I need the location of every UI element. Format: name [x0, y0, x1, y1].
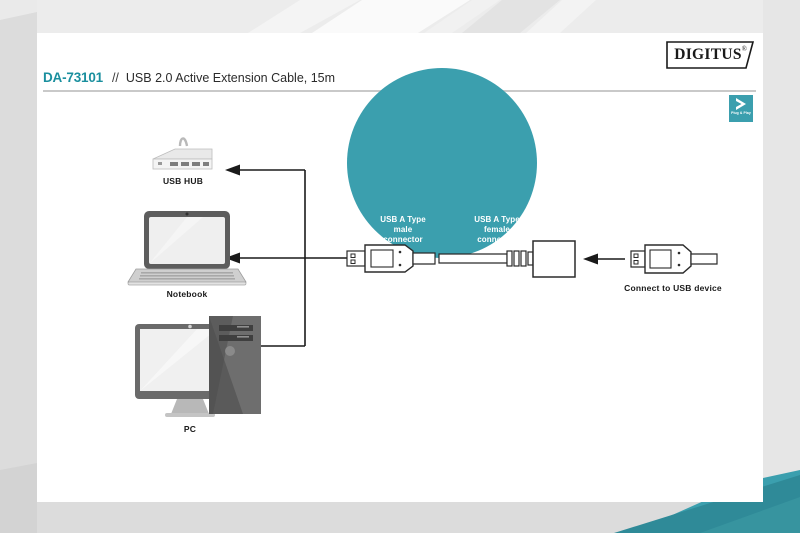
- callout-male-line2: male: [355, 225, 451, 235]
- connect-usb-device-label: Connect to USB device: [593, 283, 753, 293]
- slide-canvas: DIGITUS ® DA-73101 // USB 2.0 Active Ext…: [0, 0, 800, 533]
- callout-female-line3: connector: [449, 235, 545, 245]
- callout-male-connector: USB A Type male connector: [355, 215, 451, 246]
- callout-male-line3: connector: [355, 235, 451, 245]
- desktop-pc-icon: [135, 316, 261, 417]
- right-connection-arrow: [583, 254, 625, 265]
- device-label-pc: PC: [154, 424, 226, 434]
- connection-diagram: USB HUB Notebook PC Connect to USB devic…: [37, 33, 763, 502]
- callout-female-connector: USB A Type female connector: [449, 215, 545, 246]
- callout-male-line1: USB A Type: [355, 215, 451, 225]
- diagram-graphics: [37, 33, 763, 502]
- device-label-usb-hub: USB HUB: [147, 176, 219, 186]
- notebook-icon: [128, 211, 246, 285]
- device-label-notebook: Notebook: [151, 289, 223, 299]
- connect-usb-device-icon: [631, 245, 717, 273]
- cable-length-label: 15m cable length: [367, 285, 517, 295]
- callout-female-line1: USB A Type: [449, 215, 545, 225]
- usb-hub-icon: [153, 138, 212, 169]
- callout-female-line2: female: [449, 225, 545, 235]
